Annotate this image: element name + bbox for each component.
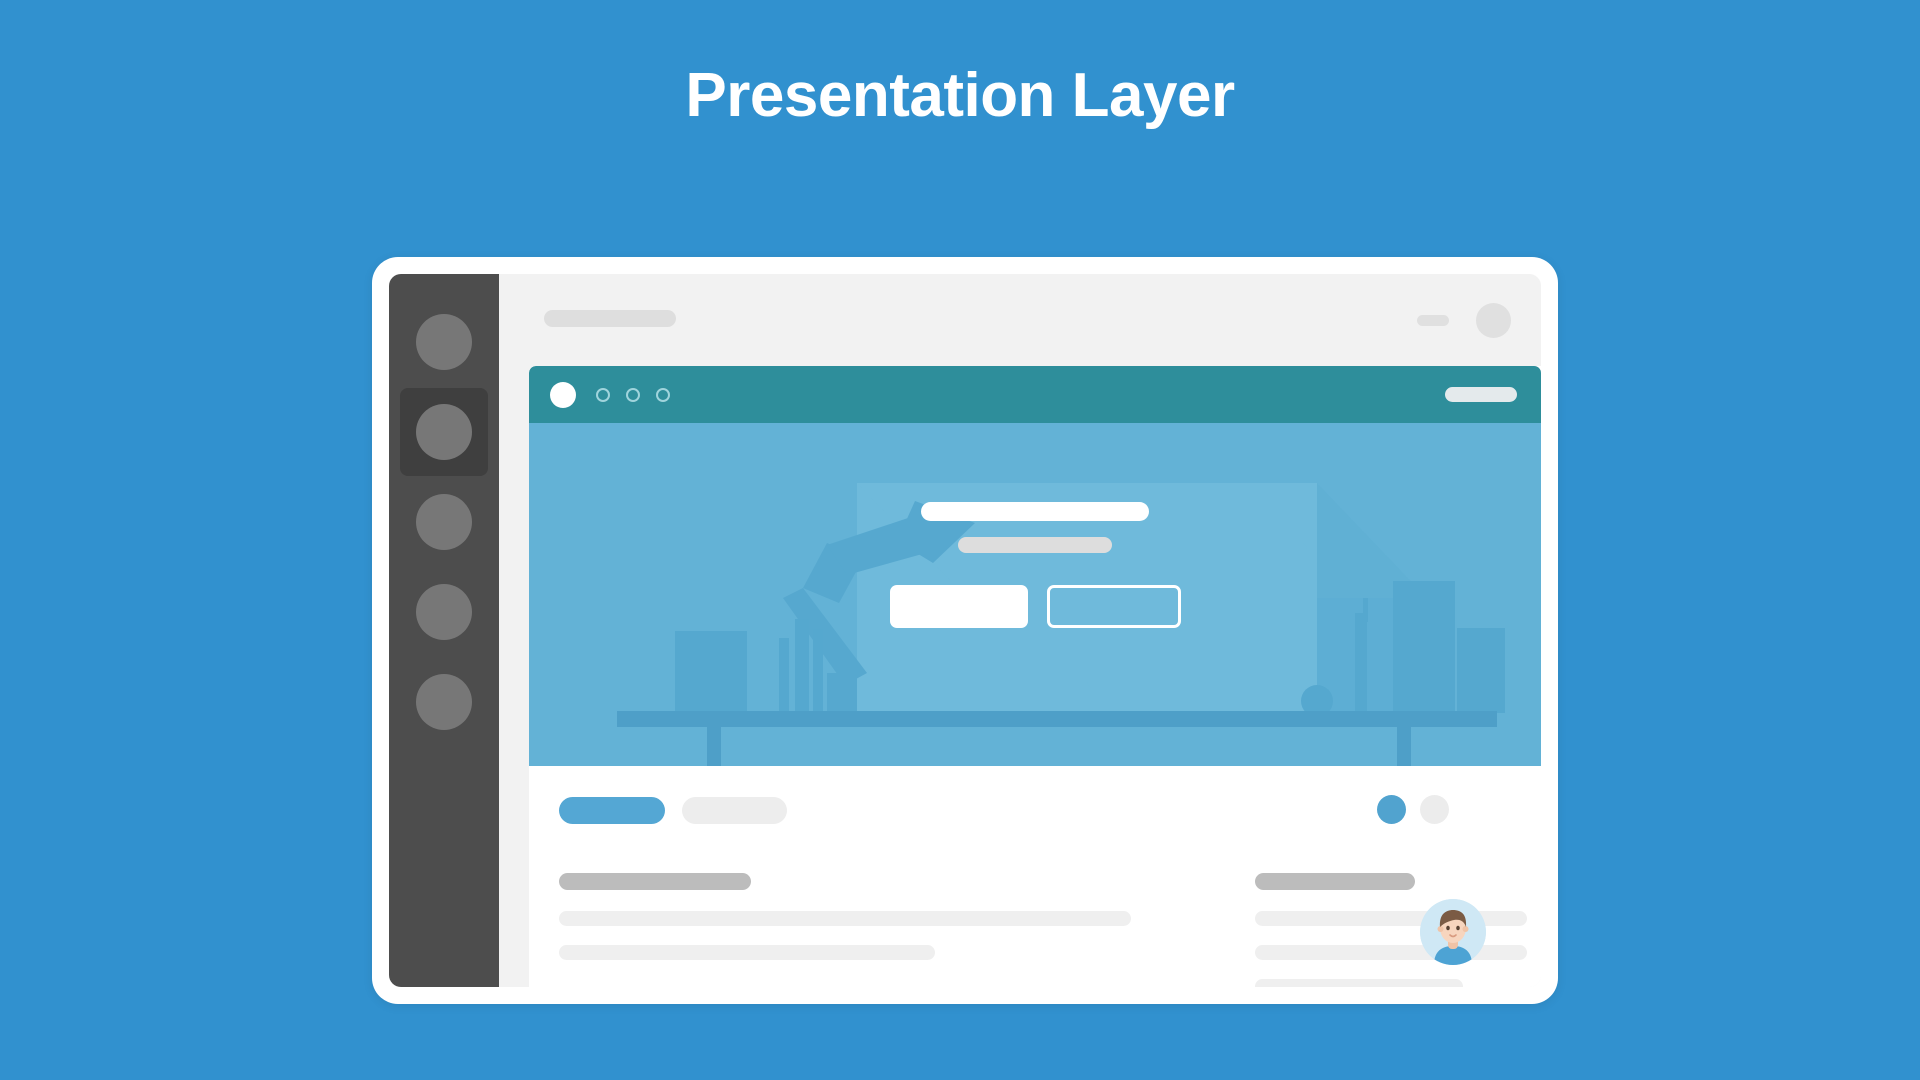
app-topbar bbox=[499, 274, 1541, 366]
sidebar-item-3[interactable] bbox=[400, 478, 488, 566]
hero-primary-button[interactable] bbox=[890, 585, 1028, 628]
browser-dot-hollow-icon-3[interactable] bbox=[656, 388, 670, 402]
user-avatar[interactable] bbox=[1420, 899, 1486, 965]
content-tab-group bbox=[559, 797, 787, 824]
circle-icon bbox=[416, 314, 472, 370]
pager-dot-inactive[interactable] bbox=[1420, 795, 1449, 824]
browser-content-area bbox=[529, 766, 1541, 987]
app-main-pane bbox=[499, 274, 1541, 987]
tab-inactive[interactable] bbox=[682, 797, 787, 824]
circle-icon bbox=[416, 404, 472, 460]
text-line-placeholder bbox=[1255, 945, 1527, 960]
content-columns bbox=[559, 873, 1541, 987]
sidebar-item-1[interactable] bbox=[400, 298, 488, 386]
text-line-placeholder bbox=[1255, 979, 1463, 987]
circle-icon bbox=[416, 674, 472, 730]
browser-chrome-bar bbox=[529, 366, 1541, 423]
column-heading-placeholder bbox=[1255, 873, 1415, 890]
app-sidebar bbox=[389, 274, 499, 987]
tablet-screen bbox=[389, 274, 1541, 987]
tab-active[interactable] bbox=[559, 797, 665, 824]
column-heading-placeholder bbox=[559, 873, 751, 890]
content-column-left bbox=[559, 873, 1131, 987]
tablet-device-frame bbox=[372, 257, 1558, 1004]
browser-dot-main-icon[interactable] bbox=[550, 382, 576, 408]
text-line-placeholder bbox=[559, 945, 935, 960]
avatar-circle-icon[interactable] bbox=[1476, 303, 1511, 338]
sidebar-item-5[interactable] bbox=[400, 658, 488, 746]
sidebar-item-4[interactable] bbox=[400, 568, 488, 656]
browser-dot-hollow-icon-2[interactable] bbox=[626, 388, 640, 402]
user-avatar-illustration bbox=[1420, 899, 1486, 965]
hero-section bbox=[529, 423, 1541, 766]
text-line-placeholder bbox=[559, 911, 1131, 926]
hero-content bbox=[529, 423, 1541, 628]
circle-icon bbox=[416, 494, 472, 550]
circle-icon bbox=[416, 584, 472, 640]
hero-headline-placeholder bbox=[921, 502, 1149, 521]
hero-secondary-button[interactable] bbox=[1047, 585, 1181, 628]
hero-button-group bbox=[890, 585, 1181, 628]
minimize-icon[interactable] bbox=[1417, 315, 1449, 326]
text-line-placeholder bbox=[1255, 911, 1527, 926]
pager-dot-active[interactable] bbox=[1377, 795, 1406, 824]
app-title-placeholder bbox=[544, 310, 676, 327]
sidebar-item-2[interactable] bbox=[400, 388, 488, 476]
content-column-right bbox=[1255, 873, 1541, 987]
pagination-dots bbox=[1377, 795, 1449, 824]
page-title: Presentation Layer bbox=[0, 62, 1920, 130]
browser-dot-hollow-icon-1[interactable] bbox=[596, 388, 610, 402]
browser-window bbox=[529, 366, 1541, 987]
hero-subheadline-placeholder bbox=[958, 537, 1112, 553]
browser-url-bar[interactable] bbox=[1445, 387, 1517, 402]
